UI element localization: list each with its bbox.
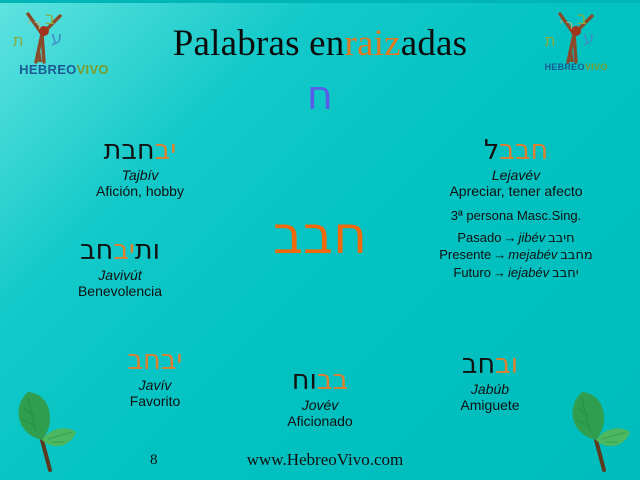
conjugation-row-presente: Presente→mejabévמחבב <box>392 247 640 265</box>
title-text-part2: adas <box>401 23 468 64</box>
leaf-icon <box>6 382 86 477</box>
central-root-word: חבב <box>230 210 410 262</box>
leaf-icon <box>560 382 640 477</box>
transliteration-tajbiv: Tajbív <box>30 167 250 183</box>
conjugation-transliteration: iejabév <box>508 265 549 280</box>
meaning-javivut: Benevolencia <box>10 283 230 299</box>
page-title: Palabras enraizadas <box>0 22 640 65</box>
arrow-icon: → <box>491 247 508 262</box>
top-edge-strip <box>0 0 640 3</box>
meaning-jovev: Aficionado <box>225 413 415 429</box>
hebrew-segment-root: חב <box>128 345 161 376</box>
transliteration-javivut: Javivút <box>10 267 230 283</box>
tense-label: Pasado <box>457 230 501 245</box>
tense-label: Futuro <box>453 265 491 280</box>
hebrew-word-lejavev: חבבל <box>392 136 640 166</box>
hebrew-word-jovev: בבוח <box>225 366 415 396</box>
hebrew-segment-root: ח <box>292 365 310 396</box>
transliteration-jabub: Jabúb <box>395 381 585 397</box>
hebrew-word-tajbiv: יבחבת <box>30 136 250 166</box>
hebrew-segment-root: חבב <box>499 135 548 166</box>
leaf-decoration-left <box>6 382 86 480</box>
hebrew-segment-root: חב <box>121 135 154 166</box>
word-block-jovev: בבוח Jovév Aficionado <box>225 366 415 429</box>
conjugation-hebrew: יחבב <box>549 266 578 281</box>
hebrew-segment-root: חב <box>462 349 495 380</box>
hebrew-segment-prefix-lamed: ל <box>484 135 499 166</box>
hebrew-word-javivut: ותיבחב <box>10 236 230 266</box>
conjugation-row-futuro: Futuro→iejabévיחבב <box>392 265 640 283</box>
tense-label: Presente <box>439 247 491 262</box>
verb-block-lejavev: חבבל Lejavév Apreciar, tener afecto 3ª p… <box>392 136 640 283</box>
hebrew-segment-prefix: יב <box>155 135 177 166</box>
title-text-highlight: raiz <box>344 23 400 64</box>
meaning-lejavev: Apreciar, tener afecto <box>392 183 640 199</box>
arrow-icon: → <box>501 230 518 245</box>
verb-person-label: 3ª persona Masc.Sing. <box>392 208 640 223</box>
header-root-letter: ח <box>0 76 640 116</box>
slide-canvas: ב ר י ת ע HEBREOVIVO ב ר י ת ע HEBREOVIV… <box>0 0 640 480</box>
conjugation-transliteration: jibév <box>518 230 545 245</box>
conjugation-table: Pasado→jibévחיבב Presente→mejabévמחבב Fu… <box>392 230 640 283</box>
hebrew-segment-vav: ו <box>310 365 317 396</box>
word-block-jabub: ובחב Jabúb Amiguete <box>395 350 585 413</box>
meaning-jabub: Amiguete <box>395 397 585 413</box>
conjugation-hebrew: מחבב <box>557 248 592 263</box>
hebrew-segment-suffix: ת <box>104 135 122 166</box>
conjugation-transliteration: mejabév <box>508 247 557 262</box>
word-block-tajbiv: יבחבת Tajbív Afición, hobby <box>30 136 250 199</box>
page-number: 8 <box>150 452 158 469</box>
hebrew-segment-root: חב <box>80 235 113 266</box>
title-text-part1: Palabras en <box>173 23 345 64</box>
hebrew-segment-mid: יב <box>113 235 135 266</box>
transliteration-lejavev: Lejavév <box>392 167 640 183</box>
word-block-javivut: ותיבחב Javivút Benevolencia <box>10 236 230 299</box>
hebrew-segment-suffix: וב <box>495 349 518 380</box>
leaf-decoration-right <box>560 382 640 480</box>
website-url: www.HebreoVivo.com <box>220 450 430 470</box>
hebrew-segment-suffix: בב <box>317 365 348 396</box>
hebrew-segment-suffix: יב <box>161 345 183 376</box>
transliteration-jovev: Jovév <box>225 397 415 413</box>
conjugation-hebrew: חיבב <box>545 231 574 246</box>
hebrew-word-jabub: ובחב <box>395 350 585 380</box>
arrow-icon: → <box>491 265 508 280</box>
conjugation-row-pasado: Pasado→jibévחיבב <box>392 230 640 248</box>
hebrew-segment-suffix: ות <box>135 235 160 266</box>
meaning-tajbiv: Afición, hobby <box>30 183 250 199</box>
